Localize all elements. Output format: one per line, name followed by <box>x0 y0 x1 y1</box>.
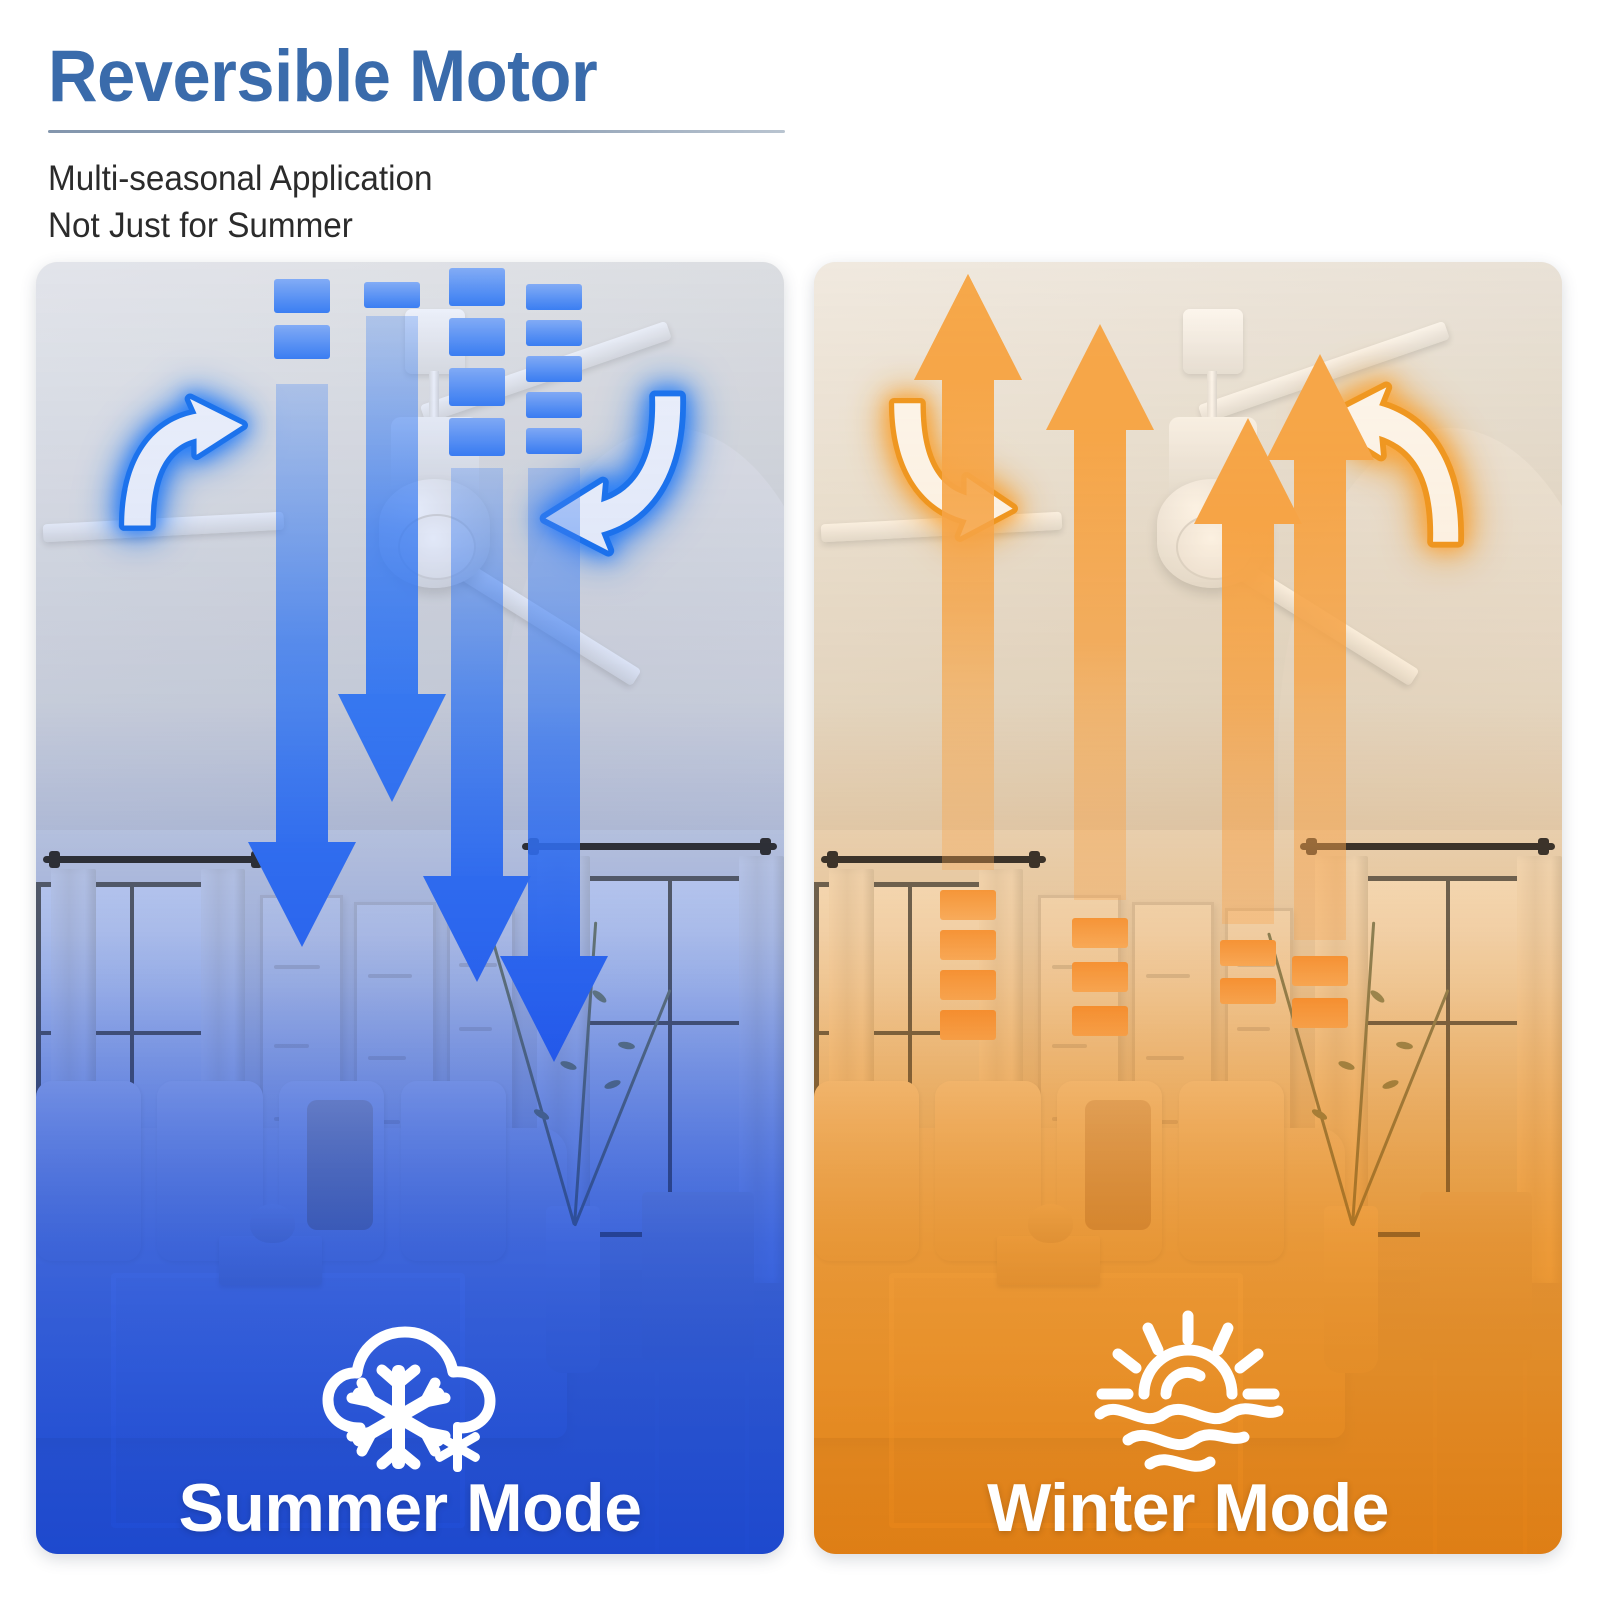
subtitle: Multi-seasonal Application Not Just for … <box>48 155 770 250</box>
subtitle-line-1: Multi-seasonal Application <box>48 155 770 202</box>
snowflake-large <box>350 1365 447 1469</box>
summer-mode-title: Summer Mode <box>36 1474 784 1543</box>
winter-labels: Winter Mode Reverse Mode Warm Airflow <box>814 1474 1562 1554</box>
header: Reversible Motor Multi-seasonal Applicat… <box>48 40 808 250</box>
title-divider <box>48 130 785 133</box>
winter-mode-title: Winter Mode <box>814 1474 1562 1543</box>
winter-mode-panel[interactable]: Winter Mode Reverse Mode Warm Airflow <box>814 262 1562 1554</box>
subtitle-line-2: Not Just for Summer <box>48 202 770 249</box>
mode-panels: Summer Mode Forward Mode Cool Airflow <box>36 262 1562 1554</box>
winter-mode-icon-wrap <box>814 1310 1562 1478</box>
infographic-page: Reversible Motor Multi-seasonal Applicat… <box>0 0 1598 1598</box>
summer-mode-panel[interactable]: Summer Mode Forward Mode Cool Airflow <box>36 262 784 1554</box>
water-waves <box>1100 1409 1278 1467</box>
sunrise-over-water-icon <box>1088 1310 1288 1478</box>
summer-mode-icon-wrap <box>36 1310 784 1478</box>
cloud-snowflake-icon <box>310 1310 510 1478</box>
summer-labels: Summer Mode Forward Mode Cool Airflow <box>36 1474 784 1554</box>
page-title: Reversible Motor <box>48 40 762 113</box>
